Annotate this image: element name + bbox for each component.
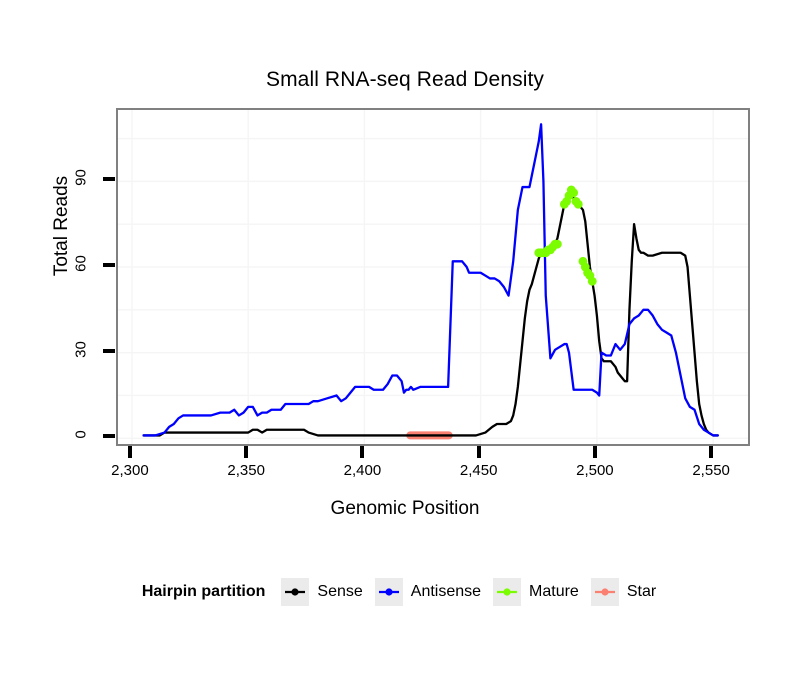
x-axis-title: Genomic Position xyxy=(0,498,810,520)
y-tick-mark xyxy=(103,177,115,181)
line-dot-key xyxy=(493,578,521,606)
mature-marker-dot xyxy=(574,200,583,209)
y-tick-mark xyxy=(103,434,115,438)
y-tick-mark xyxy=(103,349,115,353)
line-dot-key xyxy=(591,578,619,606)
x-tick-mark xyxy=(360,445,364,458)
x-tick-label: 2,450 xyxy=(444,462,514,479)
x-tick-mark xyxy=(128,445,132,458)
x-tick-mark xyxy=(709,445,713,458)
gridlines xyxy=(118,110,748,444)
legend-label: Antisense xyxy=(411,583,481,601)
x-tick-label: 2,500 xyxy=(560,462,630,479)
legend-label: Star xyxy=(627,583,656,601)
mature-marker-dot xyxy=(569,188,578,197)
legend-item-star[interactable]: Star xyxy=(591,578,656,606)
mature-marker-dot xyxy=(588,277,597,286)
legend-item-antisense[interactable]: Antisense xyxy=(375,578,481,606)
legend-label: Mature xyxy=(529,583,579,601)
x-tick-label: 2,550 xyxy=(676,462,746,479)
y-tick-label: 90 xyxy=(73,161,90,195)
y-tick-label: 30 xyxy=(73,332,90,366)
chart-title: Small RNA-seq Read Density xyxy=(0,68,810,92)
x-tick-label: 2,300 xyxy=(95,462,165,479)
legend-item-sense[interactable]: Sense xyxy=(281,578,362,606)
y-tick-label: 0 xyxy=(73,418,90,452)
y-axis-title: Total Reads xyxy=(51,146,73,306)
plot-panel xyxy=(116,108,750,446)
legend-items: SenseAntisenseMatureStar xyxy=(281,578,668,606)
x-tick-label: 2,400 xyxy=(327,462,397,479)
x-tick-mark xyxy=(244,445,248,458)
line-dot-key xyxy=(375,578,403,606)
mature-marker-dot xyxy=(553,240,562,249)
y-tick-label: 60 xyxy=(73,247,90,281)
x-tick-label: 2,350 xyxy=(211,462,281,479)
chart-legend: Hairpin partition SenseAntisenseMatureSt… xyxy=(0,578,810,606)
x-tick-mark xyxy=(593,445,597,458)
line-dot-key xyxy=(281,578,309,606)
legend-label: Sense xyxy=(317,583,362,601)
y-tick-mark xyxy=(103,263,115,267)
legend-item-mature[interactable]: Mature xyxy=(493,578,579,606)
series-sense xyxy=(144,190,718,436)
x-tick-mark xyxy=(477,445,481,458)
sense-line xyxy=(144,190,718,436)
chart-figure: Small RNA-seq Read Density Total Reads G… xyxy=(0,0,810,690)
plot-svg xyxy=(118,110,748,444)
legend-title: Hairpin partition xyxy=(142,583,266,601)
